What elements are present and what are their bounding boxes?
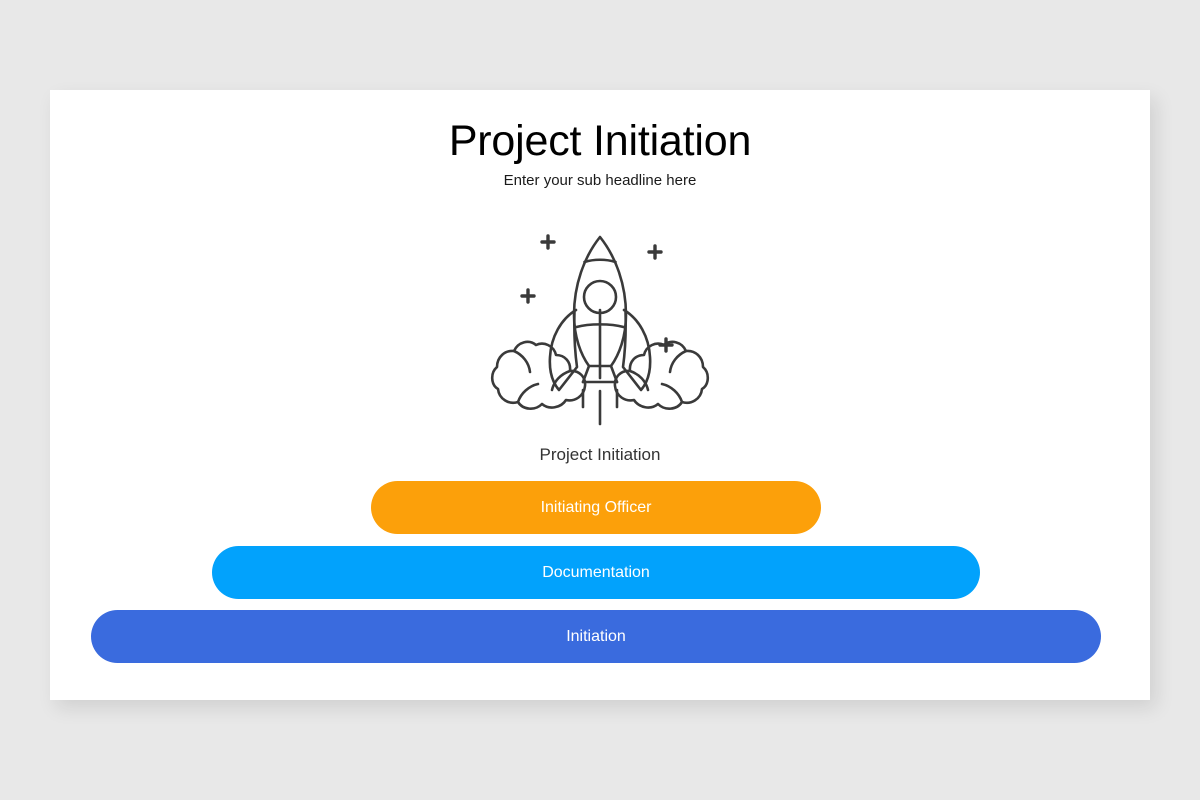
funnel-bar-initiation[interactable]: Initiation [91, 610, 1101, 663]
funnel-bar-label: Initiation [566, 628, 626, 646]
funnel-bar-label: Documentation [542, 564, 650, 582]
funnel-bar-documentation[interactable]: Documentation [212, 546, 980, 599]
funnel-chart: Initiating Officer Documentation Initiat… [50, 90, 1150, 700]
funnel-bar-label: Initiating Officer [541, 499, 652, 517]
funnel-bar-initiating-officer[interactable]: Initiating Officer [371, 481, 821, 534]
presentation-slide: Project Initiation Enter your sub headli… [50, 90, 1150, 700]
screenshot-root: Project Initiation Enter your sub headli… [0, 0, 1200, 800]
